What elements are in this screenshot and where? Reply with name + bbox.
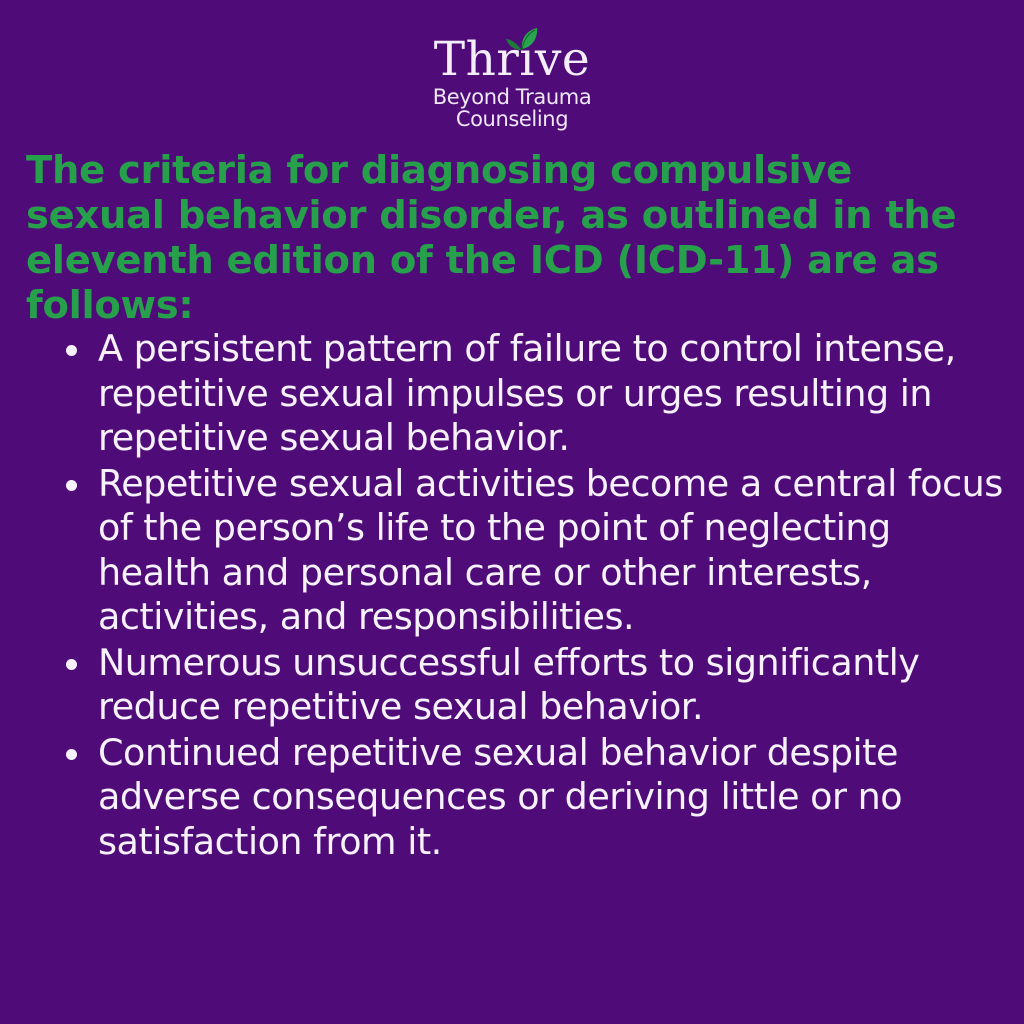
bullet-icon (66, 659, 77, 670)
criteria-list: A persistent pattern of failure to contr… (60, 327, 1010, 865)
list-item-text: Numerous unsuccessful efforts to signifi… (98, 641, 919, 729)
list-item: Continued repetitive sexual behavior des… (60, 731, 1010, 865)
bullet-icon (66, 480, 77, 491)
list-item: Repetitive sexual activities become a ce… (60, 462, 1010, 640)
list-item-text: Repetitive sexual activities become a ce… (98, 462, 1003, 639)
logo-lockup: Thrive Beyond Trauma Counseling (433, 36, 592, 130)
list-item: Numerous unsuccessful efforts to signifi… (60, 641, 1010, 730)
logo-tagline-line1: Beyond Trauma (433, 86, 592, 108)
poster-canvas: Thrive Beyond Trauma Counseling The crit… (0, 0, 1024, 1024)
list-item-text: Continued repetitive sexual behavior des… (98, 731, 902, 863)
list-item-text: A persistent pattern of failure to contr… (98, 327, 956, 459)
page-title: The criteria for diagnosing compulsive s… (26, 148, 994, 328)
bullet-icon (66, 749, 77, 760)
brand-logo: Thrive Beyond Trauma Counseling (0, 36, 1024, 130)
bullet-icon (66, 345, 77, 356)
logo-tagline-line2: Counseling (433, 108, 592, 130)
list-item: A persistent pattern of failure to contr… (60, 327, 1010, 461)
logo-brand-name: Thrive (433, 36, 592, 84)
